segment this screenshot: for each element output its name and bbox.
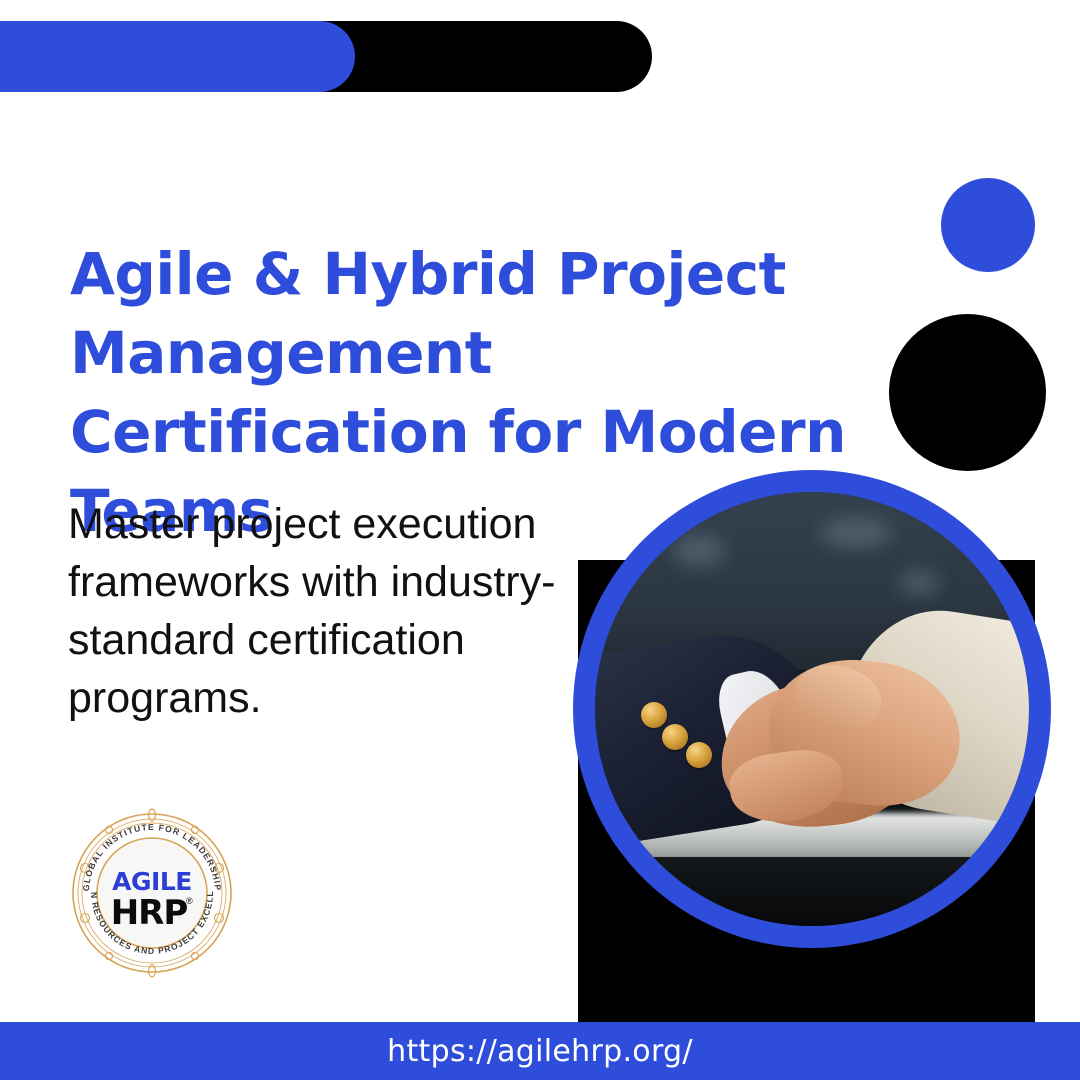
- photo-bokeh-2: [821, 518, 891, 548]
- promo-poster: Agile & Hybrid Project Management Certif…: [0, 0, 1080, 1080]
- photo-desk: [595, 857, 1029, 926]
- logo-trademark-icon: ®: [186, 896, 193, 906]
- logo-word-hrp: HRP: [111, 893, 188, 933]
- brand-logo: GLOBAL INSTITUTE FOR LEADERSHIP HUMAN RE…: [67, 808, 237, 978]
- handshake-photo: [595, 492, 1029, 926]
- top-bar-blue-pill: [0, 21, 355, 92]
- logo-word-agile: AGILE: [112, 867, 192, 896]
- handshake-photo-ring: [573, 470, 1051, 948]
- photo-blazer-button-3: [686, 742, 712, 768]
- footer-bar: https://agilehrp.org/: [0, 1022, 1080, 1080]
- decorative-blue-circle: [941, 178, 1035, 272]
- photo-blazer-button-1: [641, 702, 667, 728]
- photo-bokeh-3: [899, 570, 939, 596]
- footer-website-url[interactable]: https://agilehrp.org/: [387, 1034, 693, 1069]
- decorative-black-circle: [889, 314, 1046, 471]
- page-subtitle: Master project execution frameworks with…: [68, 495, 628, 727]
